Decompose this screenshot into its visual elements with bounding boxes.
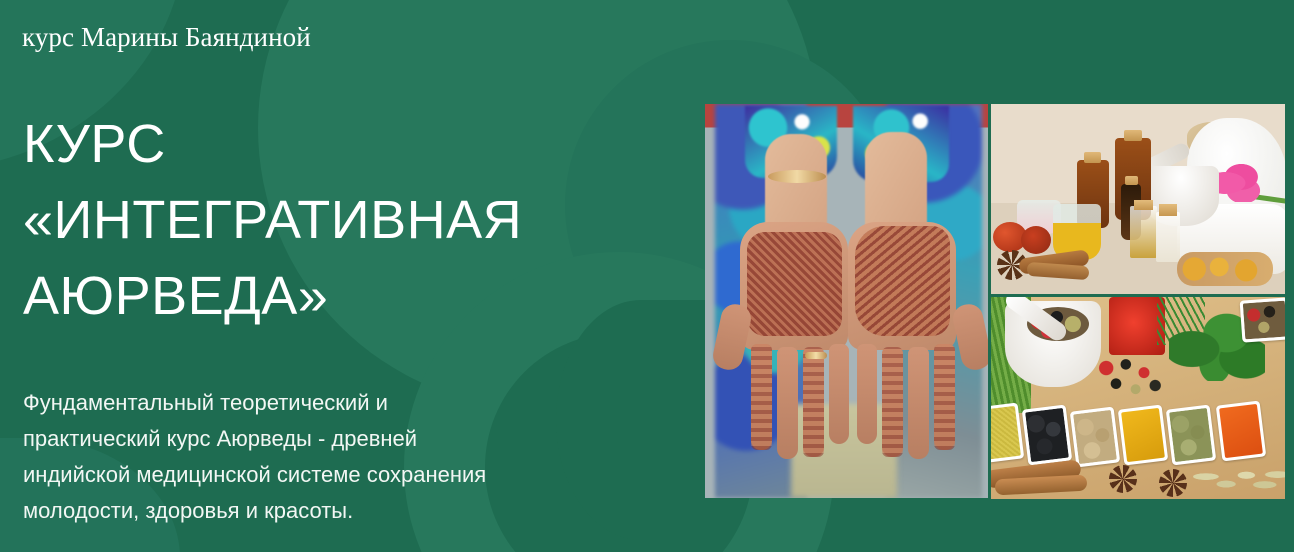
description-line-4: молодости, здоровья и красоты. — [23, 493, 643, 529]
finger-henna — [934, 344, 955, 450]
cork-stopper — [1124, 130, 1142, 141]
henna-pattern-right — [855, 226, 950, 336]
vial-cork — [1159, 204, 1177, 216]
vial-cork — [1134, 200, 1153, 210]
ayurveda-oils-photo — [991, 104, 1285, 294]
oil-vial — [1130, 206, 1157, 258]
cork-stopper — [1125, 176, 1138, 185]
course-description: Фундаментальный теоретический и практиче… — [23, 385, 643, 529]
gold-bangle — [768, 170, 826, 183]
finger-henna — [751, 344, 772, 450]
spice-tray — [1118, 405, 1168, 466]
star-anise — [1159, 469, 1187, 497]
page-title: КУРС «ИНТЕГРАТИВНАЯ АЮРВЕДА» — [23, 106, 643, 334]
headline-line-1: КУРС — [23, 106, 643, 182]
henna-pattern-left — [747, 232, 842, 336]
gold-ring — [805, 352, 827, 359]
course-hero-banner: курс Марины Баяндиной КУРС «ИНТЕГРАТИВНА… — [0, 0, 1294, 552]
finger — [829, 344, 849, 444]
spice-tray — [1216, 401, 1266, 462]
clear-vial — [1156, 212, 1180, 262]
scattered-peppercorns — [1095, 357, 1165, 403]
description-line-2: практический курс Аюрведы - древней — [23, 421, 643, 457]
headline-line-3: АЮРВЕДА» — [23, 258, 643, 334]
description-line-1: Фундаментальный теоретический и — [23, 385, 643, 421]
henna-hands-photo — [705, 104, 988, 498]
dried-fruit — [1021, 226, 1051, 254]
finger — [777, 347, 798, 459]
cardamom-pods — [1193, 463, 1285, 497]
finger-henna — [882, 347, 903, 457]
star-anise — [1109, 465, 1137, 493]
turmeric-root — [1177, 252, 1273, 286]
headline-line-2: «ИНТЕГРАТИВНАЯ — [23, 182, 643, 258]
spice-tray — [1022, 405, 1072, 466]
finger — [857, 344, 877, 444]
finger — [908, 347, 929, 459]
spices-photo — [991, 297, 1285, 499]
spice-tray — [1166, 405, 1216, 466]
spice-tray — [1070, 407, 1120, 468]
spice-tray — [1240, 297, 1285, 342]
hero-text-column: курс Марины Баяндиной КУРС «ИНТЕГРАТИВНА… — [22, 0, 662, 552]
cork-stopper — [1084, 152, 1101, 163]
course-author-eyebrow: курс Марины Баяндиной — [22, 22, 311, 53]
description-line-3: индийской медицинской системе сохранения — [23, 457, 643, 493]
finger-henna — [803, 347, 824, 457]
